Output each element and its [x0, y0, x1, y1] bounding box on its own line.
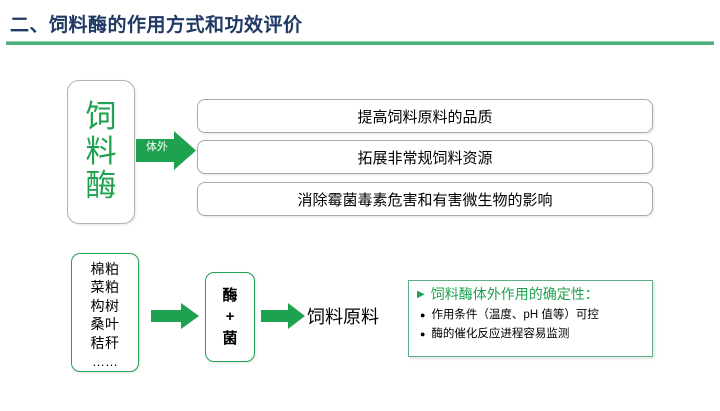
flow-arrow-icon [151, 303, 199, 329]
flow-result-label: 饲料原料 [307, 303, 379, 329]
feed-enzyme-char-2: 料 [86, 135, 117, 170]
outcome-box: 提高饲料原料的品质 [197, 99, 653, 133]
feed-enzyme-char-1: 饲 [86, 100, 117, 135]
outcome-label: 拓展非常规饲料资源 [357, 147, 492, 168]
enzyme-microbe-card: 酶 + 菌 [205, 272, 255, 362]
title-underline-rule [6, 41, 714, 45]
note-heading-row: ▶ 饲料酶体外作用的确定性： [417, 286, 646, 304]
feed-enzyme-char-3: 酶 [86, 169, 117, 204]
note-list-item: ● 酶的催化反应进程容易监测 [420, 327, 646, 342]
material-item: 桑叶 [91, 315, 120, 333]
outcome-label: 消除霉菌毒素危害和有害微生物的影响 [297, 189, 552, 210]
flow-arrow-icon [261, 303, 305, 329]
triangle-bullet-icon: ▶ [417, 290, 425, 300]
material-ellipsis: …… [92, 353, 118, 370]
feed-enzyme-card: 饲 料 酶 [67, 80, 135, 224]
note-item-label: 作用条件（温度、pH 值等）可控 [431, 308, 598, 323]
page-title: 二、饲料酶的作用方式和功效评价 [10, 10, 303, 37]
certainty-note-panel: ▶ 饲料酶体外作用的确定性： ● 作用条件（温度、pH 值等）可控 ● 酶的催化… [408, 280, 653, 357]
ex-vivo-arrow: 体外 [136, 131, 196, 170]
ex-vivo-arrow-label: 体外 [140, 142, 174, 153]
dot-bullet-icon: ● [420, 311, 425, 320]
mix-line: 菌 [222, 328, 237, 349]
material-item: 构树 [91, 297, 120, 315]
outcome-label: 提高饲料原料的品质 [357, 106, 492, 127]
material-item: 秸秆 [91, 334, 120, 352]
raw-materials-card: 棉粕 菜粕 构树 桑叶 秸秆 …… [71, 253, 139, 372]
mix-line: + [226, 306, 235, 327]
material-item: 棉粕 [91, 260, 120, 278]
note-list-item: ● 作用条件（温度、pH 值等）可控 [420, 308, 646, 323]
outcome-box: 拓展非常规饲料资源 [197, 140, 653, 174]
dot-bullet-icon: ● [420, 330, 425, 339]
outcome-box: 消除霉菌毒素危害和有害微生物的影响 [197, 182, 653, 216]
mix-line: 酶 [222, 285, 237, 306]
slide-canvas: 二、饲料酶的作用方式和功效评价 饲 料 酶 体外 提高饲料原料的品质 拓展非常规… [0, 0, 720, 411]
material-item: 菜粕 [91, 278, 120, 296]
note-heading-label: 饲料酶体外作用的确定性： [431, 286, 599, 304]
note-item-label: 酶的催化反应进程容易监测 [431, 327, 569, 342]
